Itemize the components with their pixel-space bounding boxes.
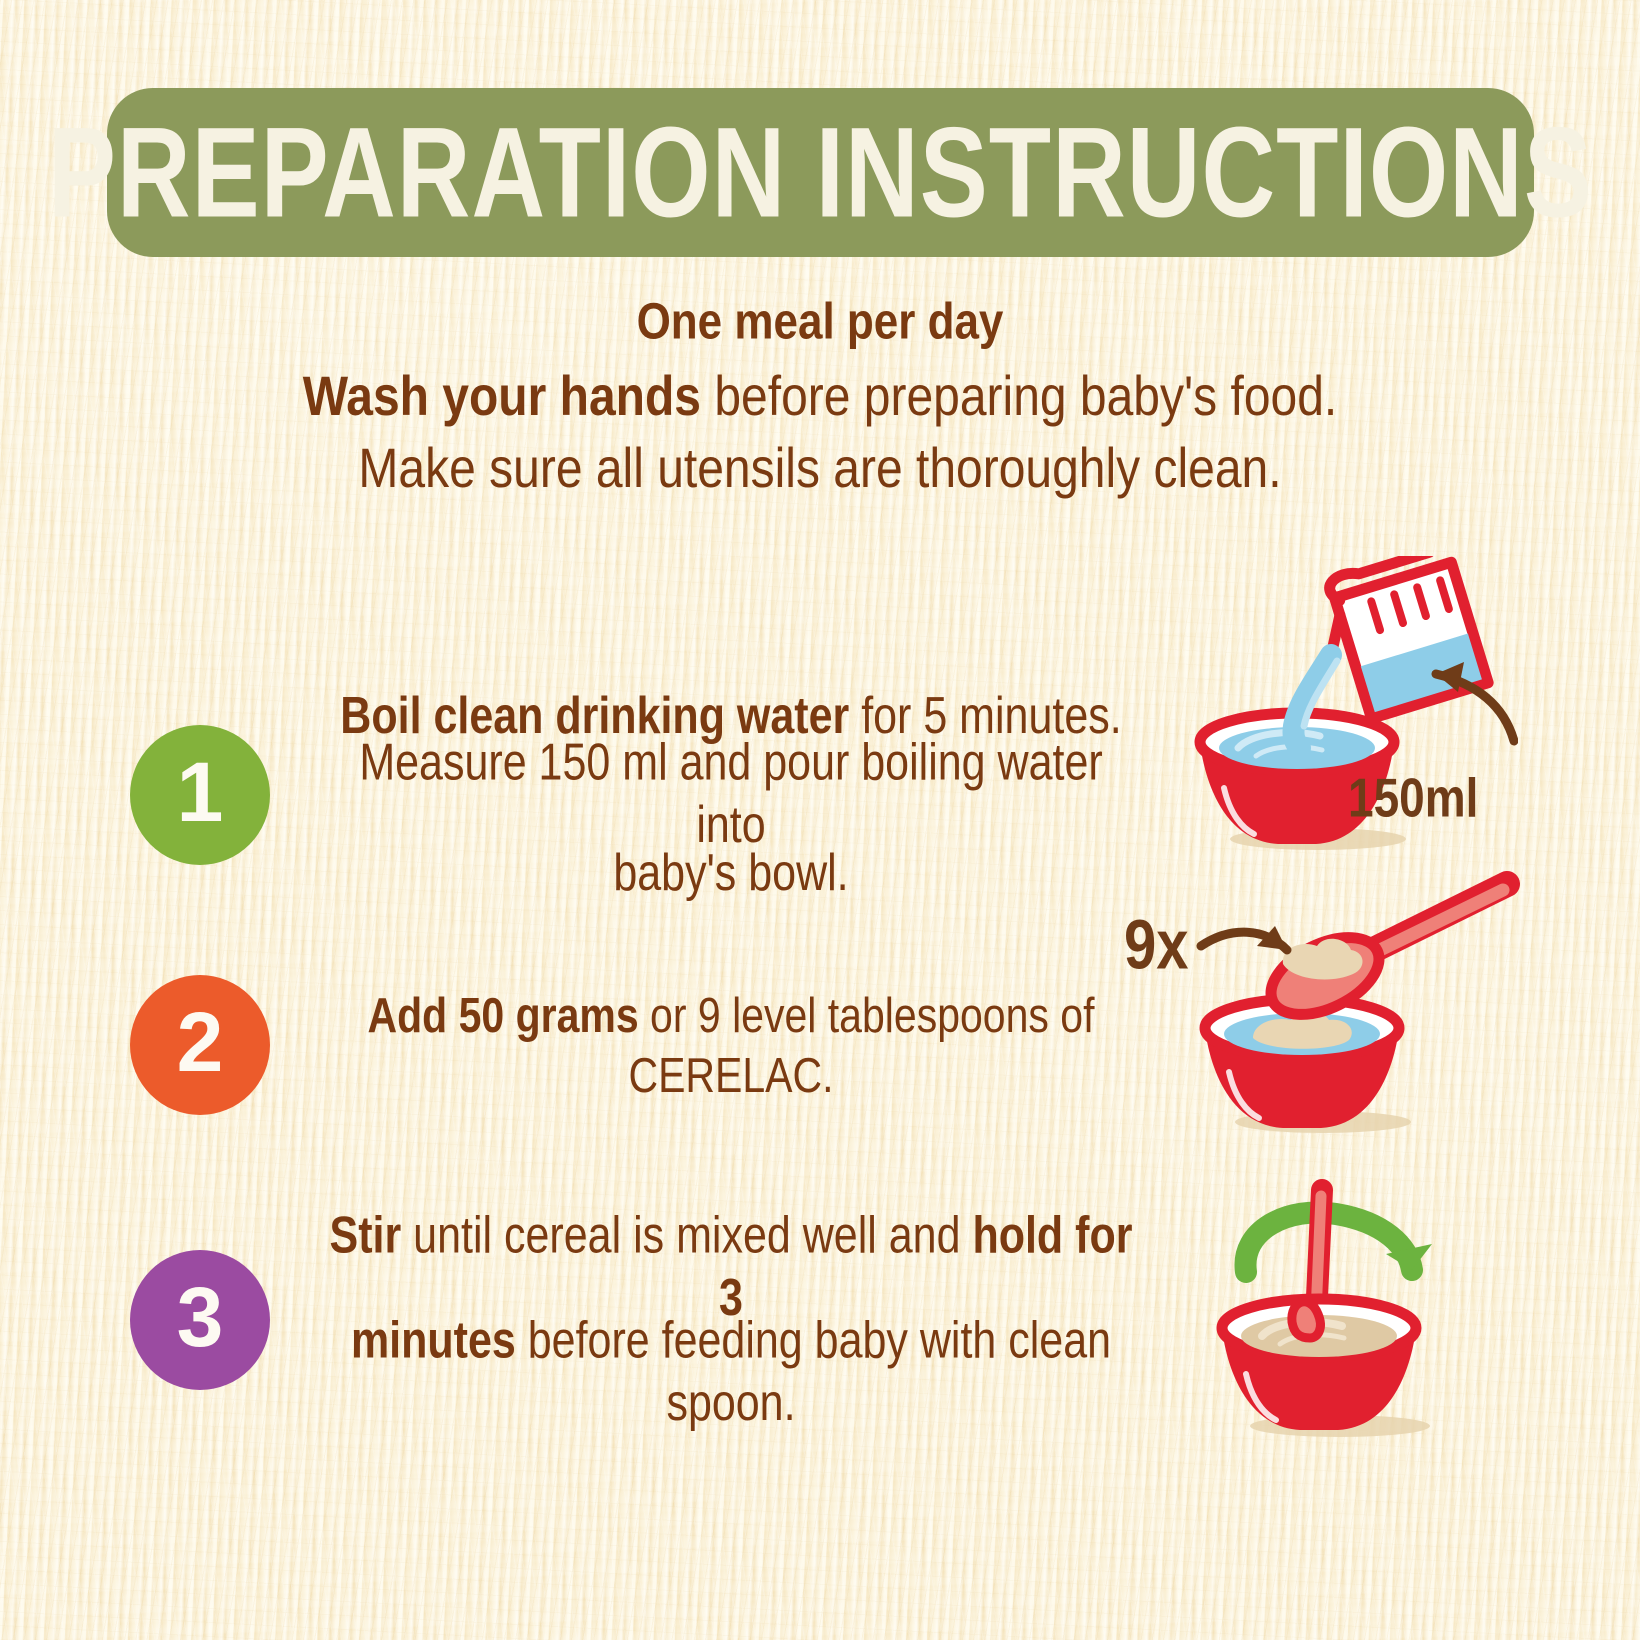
step-3-rest: before feeding baby with clean spoon. [516, 1312, 1111, 1433]
stirring-bowl-icon [1140, 1130, 1520, 1440]
step-2-line-1: Add 50 grams or 9 level tablespoons of C… [322, 985, 1140, 1105]
step-3-bold-minutes: minutes [351, 1312, 516, 1370]
step-2-rest: or 9 level tablespoons of CERELAC. [628, 987, 1094, 1102]
header-banner: PREPARATION INSTRUCTIONS [107, 88, 1534, 257]
illustration-stirring [1140, 1130, 1520, 1440]
callout-150ml: 150ml [1348, 766, 1478, 830]
page-title: PREPARATION INSTRUCTIONS [48, 109, 1593, 237]
step-3-bold-stir: Stir [330, 1207, 402, 1265]
step-number-badge-2: 2 [130, 975, 270, 1115]
step-3-mid: until cereal is mixed well and [401, 1207, 972, 1265]
intro-wash-hands-bold: Wash your hands [303, 366, 701, 427]
step-number-badge-3: 3 [130, 1250, 270, 1390]
step-3-line-2: minutes before feeding baby with clean s… [322, 1309, 1140, 1435]
intro-line-wash-hands: Wash your hands before preparing baby's … [0, 365, 1640, 430]
step-1-line-2: Measure 150 ml and pour boiling water in… [322, 732, 1140, 858]
intro-block: One meal per day Wash your hands before … [0, 292, 1640, 492]
step-row-1: 1 Boil clean drinking water for 5 minute… [130, 690, 1140, 900]
step-text-2: Add 50 grams or 9 level tablespoons of C… [322, 995, 1140, 1095]
step-number-badge-1: 1 [130, 725, 270, 865]
step-2-bold: Add 50 grams [367, 987, 638, 1042]
intro-line-one-meal: One meal per day [0, 292, 1640, 351]
step-row-2: 2 Add 50 grams or 9 level tablespoons of… [130, 975, 1140, 1115]
step-text-1: Boil clean drinking water for 5 minutes.… [322, 690, 1140, 900]
step-1-line-3: baby's bowl. [322, 842, 1140, 905]
step-row-3: 3 Stir until cereal is mixed well and ho… [130, 1215, 1140, 1425]
intro-wash-hands-rest: before preparing baby's food. [701, 366, 1337, 427]
intro-line-utensils: Make sure all utensils are thoroughly cl… [0, 437, 1640, 502]
step-text-3: Stir until cereal is mixed well and hold… [322, 1215, 1140, 1425]
callout-9x: 9x [1124, 905, 1189, 985]
